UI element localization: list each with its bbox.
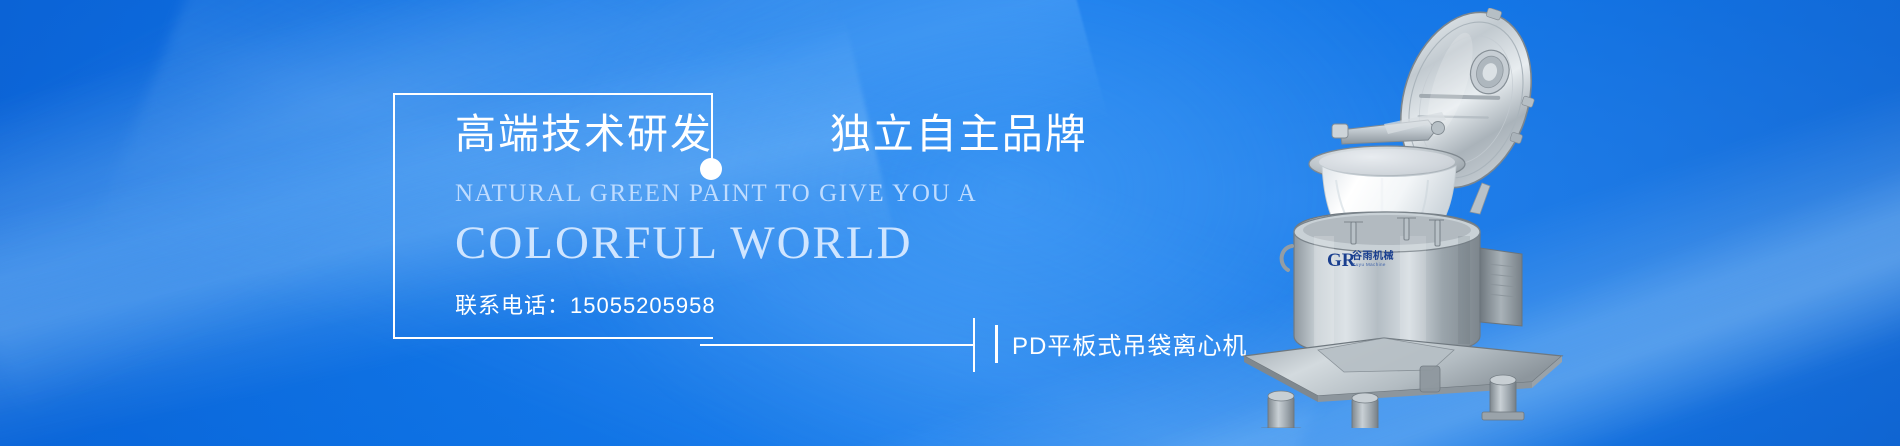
brand-name-cn: 谷雨机械 <box>1352 252 1430 262</box>
copy-block: 高端技术研发 独立自主品牌 NATURAL GREEN PAINT TO GIV… <box>455 110 1095 320</box>
brand-decal: 谷雨机械 Guyu Machine <box>1352 252 1430 268</box>
product-image-centrifuge <box>1232 8 1652 428</box>
headline-right: 独立自主品牌 <box>830 111 1088 157</box>
caption-accent-bar <box>995 325 998 363</box>
contact-phone: 联系电话：15055205958 <box>455 288 1095 320</box>
headline-left: 高端技术研发 <box>455 111 713 157</box>
brand-name-en: Guyu Machine <box>1352 263 1430 268</box>
headline-row: 高端技术研发 独立自主品牌 <box>455 110 1095 158</box>
hero-banner: 高端技术研发 独立自主品牌 NATURAL GREEN PAINT TO GIV… <box>0 0 1900 446</box>
caption-leader-tick <box>973 318 975 372</box>
subtitle-english: NATURAL GREEN PAINT TO GIVE YOU A <box>455 180 1095 208</box>
product-caption: PD平板式吊袋离心机 <box>1012 326 1247 361</box>
caption-leader-line <box>700 344 975 346</box>
tagline-english: COLORFUL WORLD <box>455 216 1095 270</box>
